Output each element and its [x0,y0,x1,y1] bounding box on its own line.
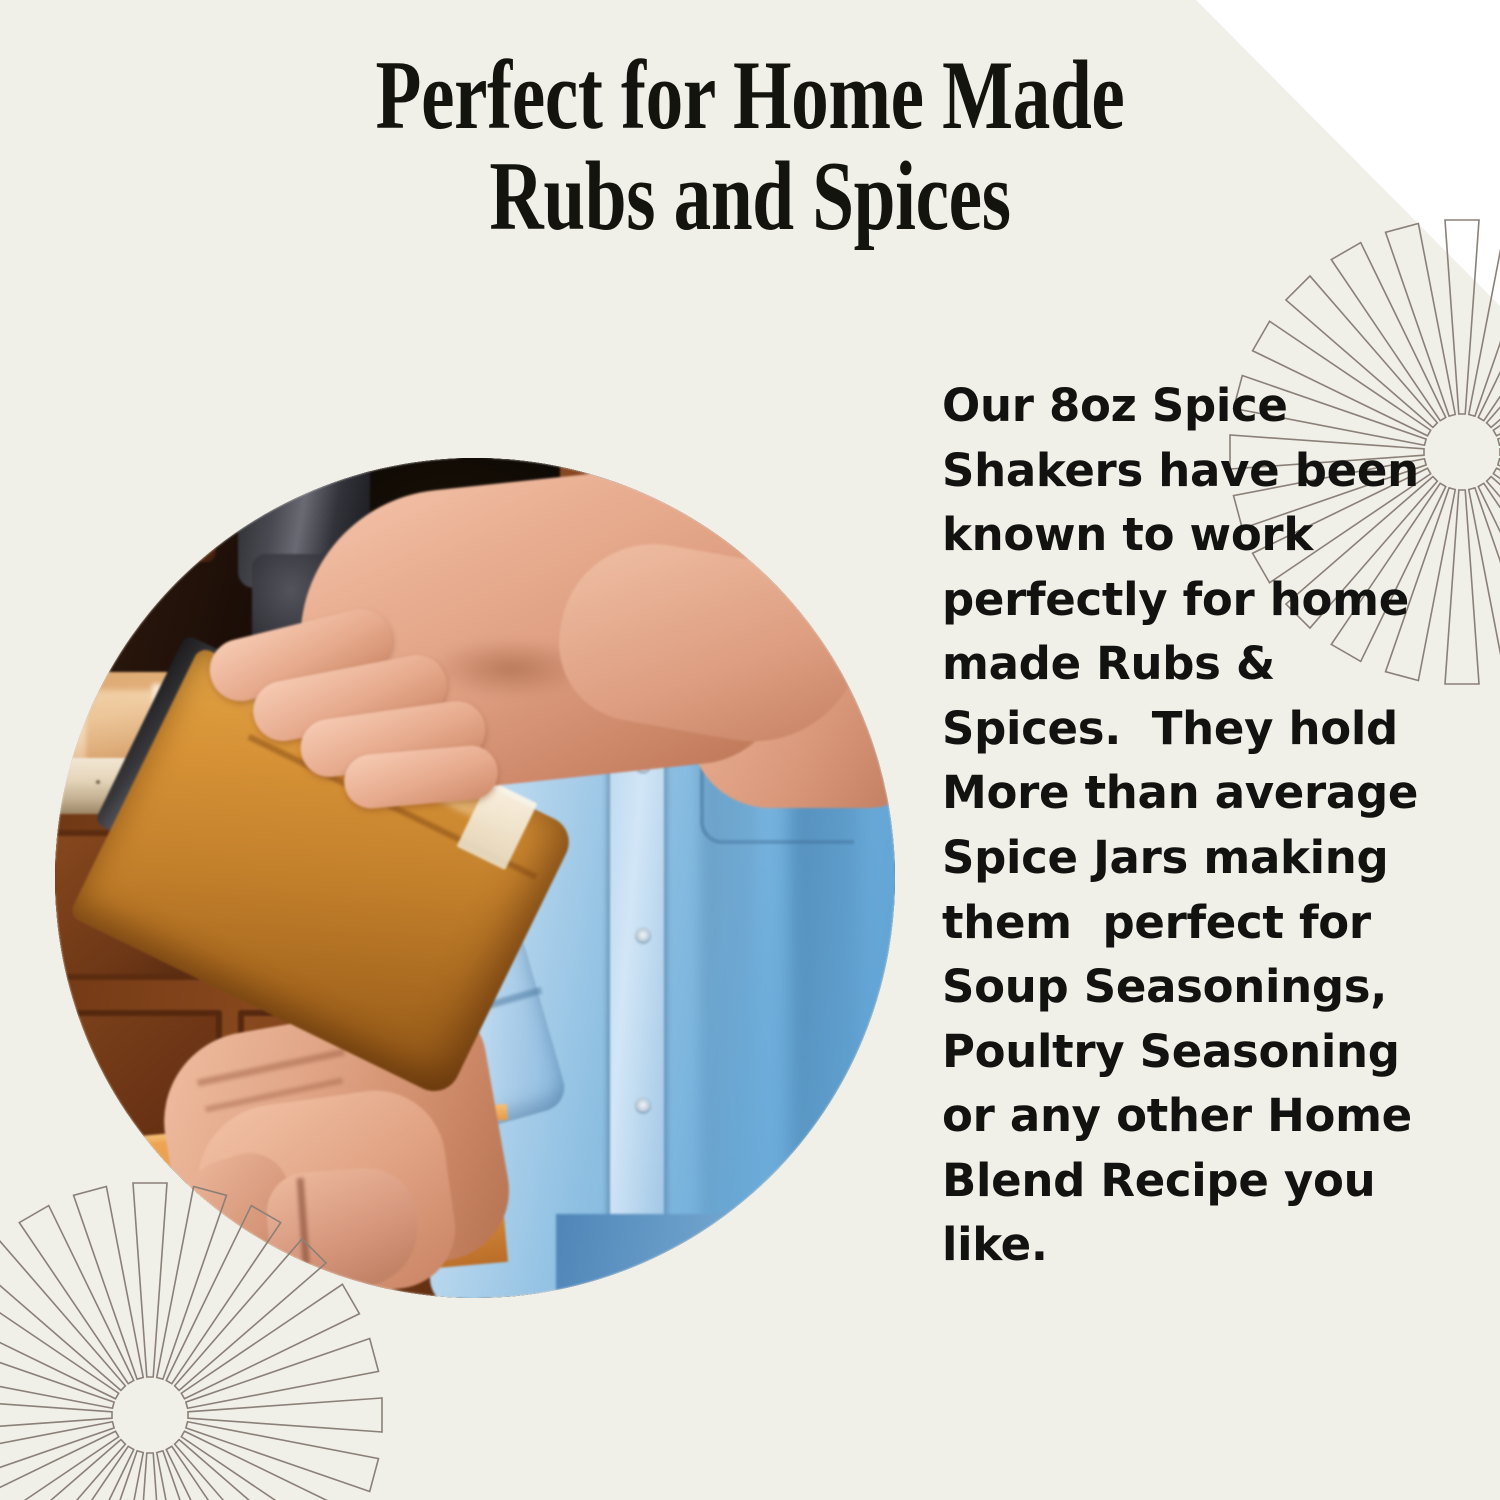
product-description: Our 8oz Spice Shakers have been known to… [942,374,1462,1278]
shirt-button [636,1098,650,1112]
page-title: Perfect for Home Made Rubs and Spices [180,46,1320,248]
shirt-button [636,928,650,942]
marketing-banner: Perfect for Home Made Rubs and Spices [0,0,1500,1500]
